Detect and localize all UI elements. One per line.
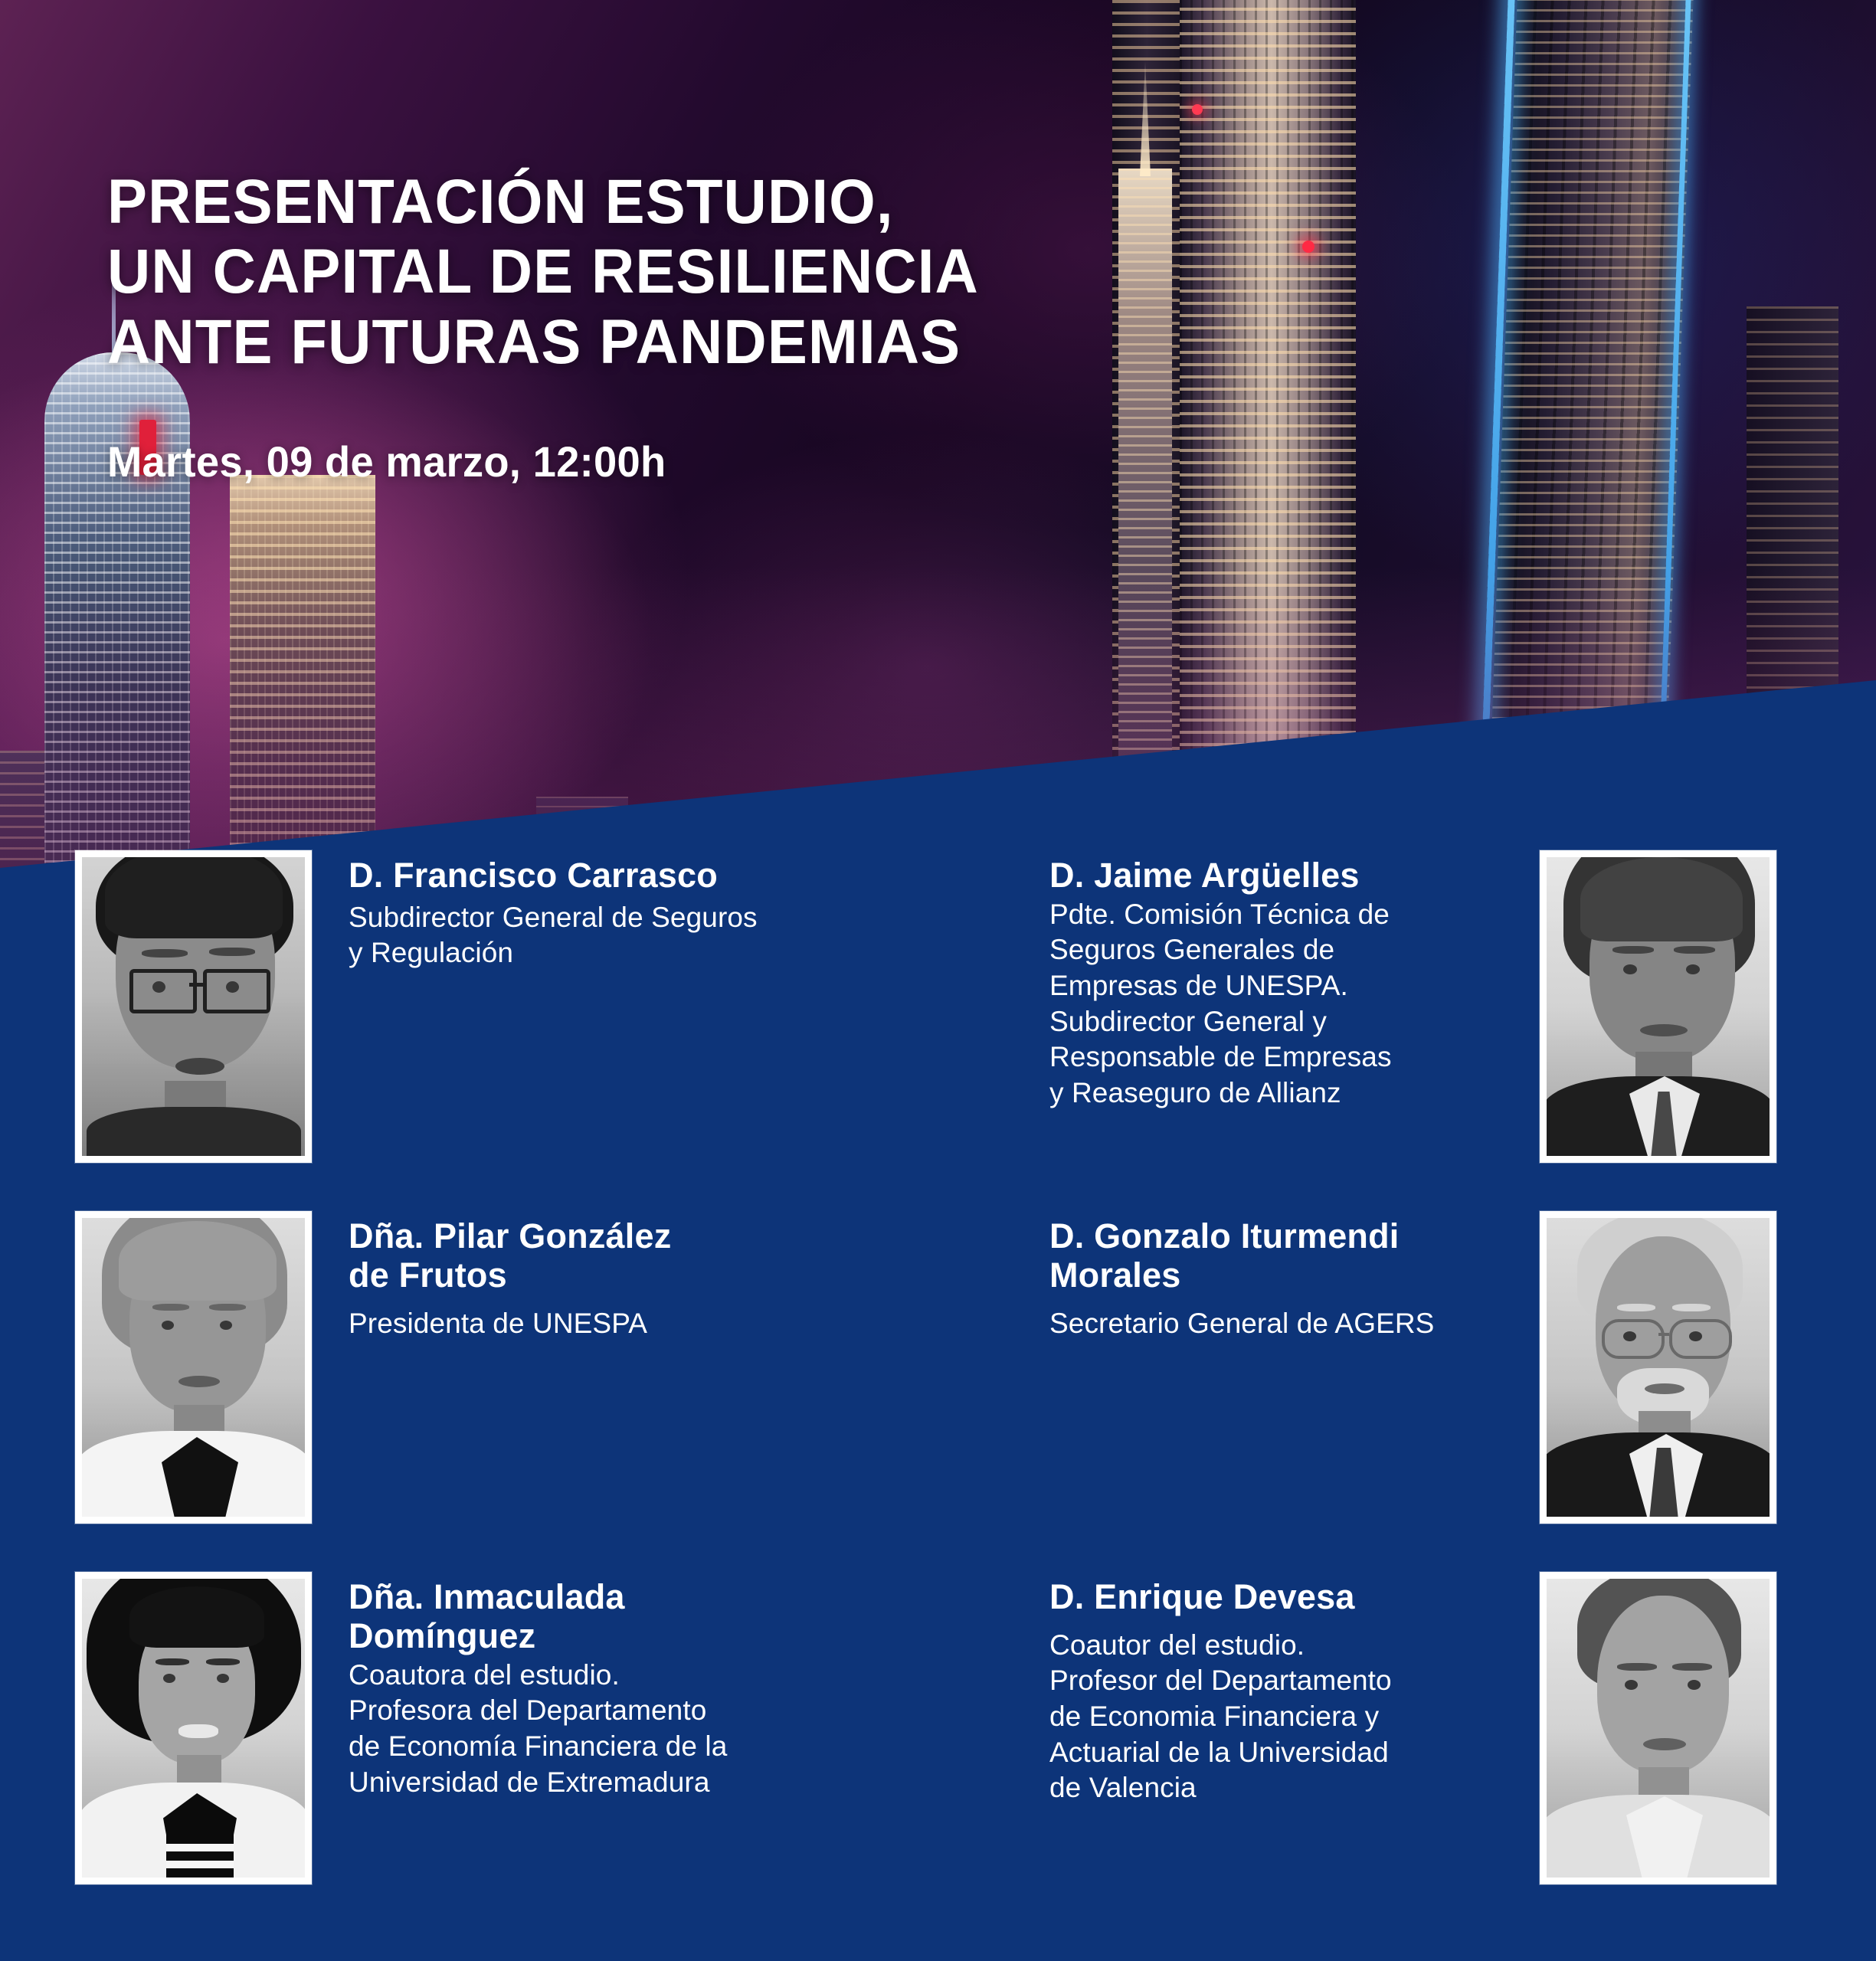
speaker-info: D. Gonzalo Iturmendi Morales Secretario … (1049, 1211, 1509, 1341)
speaker-card-francisco-carrasco: D. Francisco Carrasco Subdirector Genera… (75, 850, 902, 1163)
speaker-photo-frame (1540, 850, 1776, 1163)
speaker-photo-inmaculada-dominguez (82, 1579, 305, 1878)
speaker-photo-frame (75, 1572, 312, 1884)
speaker-card-jaime-arguelles: D. Jaime Argüelles Pdte. Comisión Técnic… (1049, 850, 1808, 1163)
speaker-role: Coautor del estudio. Profesor del Depart… (1049, 1628, 1509, 1806)
speakers-row: Dña. Inmaculada Domínguez Coautora del e… (0, 1572, 1876, 1933)
speaker-photo-frame (1540, 1572, 1776, 1884)
speaker-name: Dña. Inmaculada Domínguez (349, 1578, 727, 1656)
speaker-photo-pilar-gonzalez-de-frutos (82, 1218, 305, 1517)
speaker-name: D. Gonzalo Iturmendi Morales (1049, 1217, 1509, 1295)
speaker-role: Subdirector General de Seguros y Regulac… (349, 900, 758, 971)
page-title: PRESENTACIÓN ESTUDIO, UN CAPITAL DE RESI… (107, 167, 979, 377)
speaker-role: Presidenta de UNESPA (349, 1306, 671, 1342)
speaker-photo-francisco-carrasco (82, 857, 305, 1156)
speaker-photo-enrique-devesa (1547, 1579, 1770, 1878)
speaker-card-enrique-devesa: D. Enrique Devesa Coautor del estudio. P… (1049, 1572, 1808, 1884)
speaker-info: D. Enrique Devesa Coautor del estudio. P… (1049, 1572, 1509, 1806)
speaker-name: D. Francisco Carrasco (349, 856, 758, 895)
speaker-photo-frame (1540, 1211, 1776, 1524)
speaker-card-pilar-gonzalez: Dña. Pilar González de Frutos Presidenta… (75, 1211, 902, 1524)
speaker-photo-gonzalo-iturmendi-morales (1547, 1218, 1770, 1517)
speaker-info: D. Jaime Argüelles Pdte. Comisión Técnic… (1049, 850, 1509, 1111)
skyline-beacon-light-3 (1192, 104, 1203, 115)
speaker-role: Pdte. Comisión Técnica de Seguros Genera… (1049, 897, 1509, 1111)
speakers-row: D. Francisco Carrasco Subdirector Genera… (0, 850, 1876, 1211)
speaker-photo-frame (75, 1211, 312, 1524)
speaker-info: Dña. Pilar González de Frutos Presidenta… (349, 1211, 671, 1341)
speaker-name: D. Enrique Devesa (1049, 1578, 1509, 1617)
speaker-role: Secretario General de AGERS (1049, 1306, 1509, 1342)
speaker-photo-jaime-arguelles (1547, 857, 1770, 1156)
speaker-name: D. Jaime Argüelles (1049, 856, 1509, 895)
speaker-info: Dña. Inmaculada Domínguez Coautora del e… (349, 1572, 727, 1800)
hero-text-block: PRESENTACIÓN ESTUDIO, UN CAPITAL DE RESI… (107, 167, 1025, 486)
speaker-role: Coautora del estudio. Profesora del Depa… (349, 1658, 727, 1800)
speaker-name: Dña. Pilar González de Frutos (349, 1217, 671, 1295)
event-datetime: Martes, 09 de marzo, 12:00h (107, 437, 997, 486)
skyline-beacon-light-2 (1302, 241, 1315, 253)
speakers-row: Dña. Pilar González de Frutos Presidenta… (0, 1211, 1876, 1572)
speaker-card-gonzalo-iturmendi: D. Gonzalo Iturmendi Morales Secretario … (1049, 1211, 1808, 1524)
speaker-photo-frame (75, 850, 312, 1163)
speaker-card-inmaculada-dominguez: Dña. Inmaculada Domínguez Coautora del e… (75, 1572, 902, 1884)
speakers-grid: D. Francisco Carrasco Subdirector Genera… (0, 850, 1876, 1933)
speaker-info: D. Francisco Carrasco Subdirector Genera… (349, 850, 758, 971)
